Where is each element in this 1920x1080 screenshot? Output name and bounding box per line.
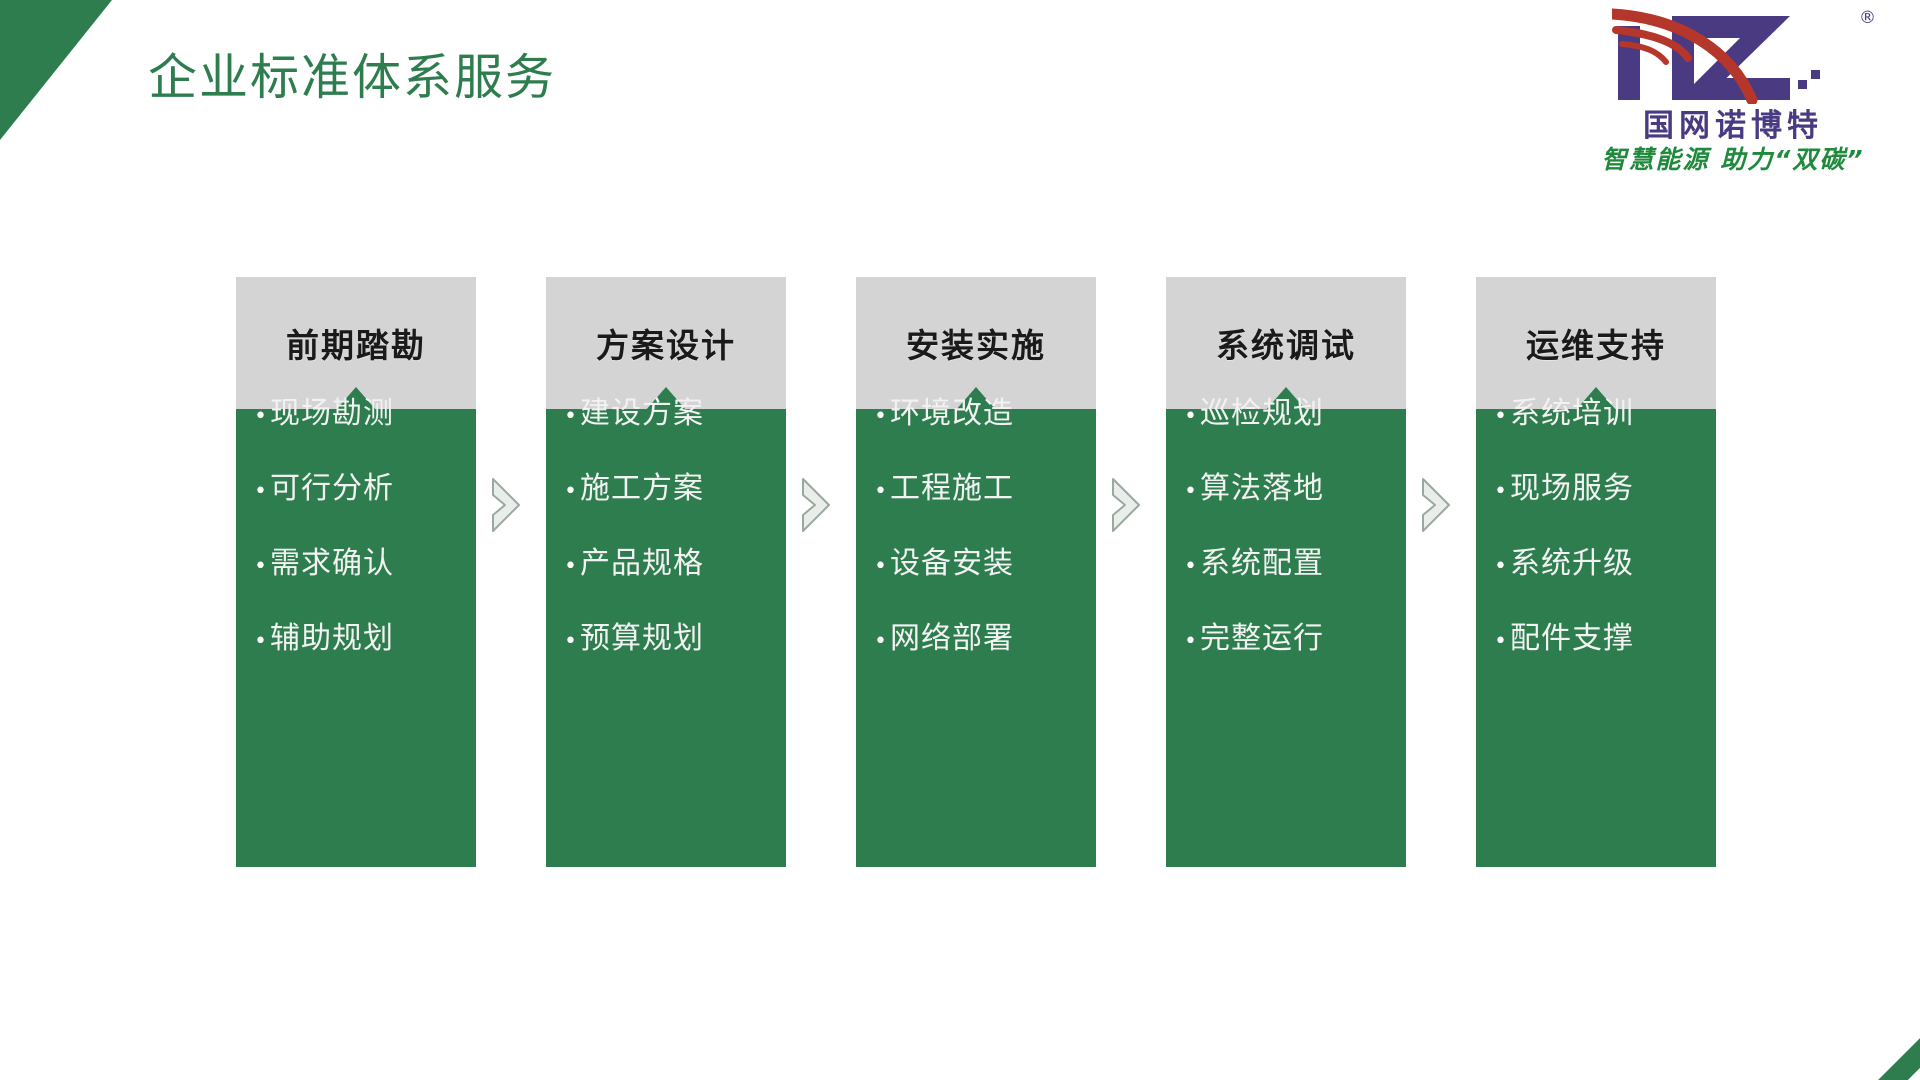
- bullet-label: 完整运行: [1200, 624, 1324, 654]
- bullet-label: 系统配置: [1200, 549, 1324, 579]
- list-item: • 现场勘测: [236, 399, 476, 429]
- list-item: • 产品规格: [546, 549, 786, 579]
- bullet-label: 算法落地: [1200, 474, 1324, 504]
- process-step-4[interactable]: 系统调试 • 巡检规划 • 算法落地 • 系统配置 • 完整运行: [1166, 277, 1406, 867]
- bullet-dot-icon: •: [1184, 406, 1200, 428]
- list-item: • 环境改造: [856, 399, 1096, 429]
- logo-company-name: 国网诺博特: [1584, 100, 1882, 145]
- bullet-label: 系统升级: [1510, 549, 1634, 579]
- chevron-right-icon-2: [799, 477, 833, 533]
- bullet-dot-icon: •: [1494, 556, 1510, 578]
- bullet-dot-icon: •: [1184, 556, 1200, 578]
- list-item: • 完整运行: [1166, 624, 1406, 654]
- step-title: 系统调试: [1216, 319, 1356, 367]
- list-item: • 现场服务: [1476, 474, 1716, 504]
- step-title: 前期踏勘: [286, 319, 426, 367]
- step-title: 运维支持: [1526, 319, 1666, 367]
- step-bullet-list: • 巡检规划 • 算法落地 • 系统配置 • 完整运行: [1166, 399, 1406, 699]
- corner-stripes-bottom-right: [1770, 970, 1920, 1080]
- bullet-dot-icon: •: [874, 406, 890, 428]
- chevron-right-icon-1: [489, 477, 523, 533]
- bullet-dot-icon: •: [564, 556, 580, 578]
- bullet-dot-icon: •: [874, 631, 890, 653]
- bullet-label: 产品规格: [580, 549, 704, 579]
- corner-triangle-top-left: [0, 0, 112, 140]
- registered-trademark-icon: ®: [1859, 10, 1876, 27]
- list-item: • 算法落地: [1166, 474, 1406, 504]
- chevron-right-icon-3: [1109, 477, 1143, 533]
- list-item: • 预算规划: [546, 624, 786, 654]
- list-item: • 设备安装: [856, 549, 1096, 579]
- list-item: • 网络部署: [856, 624, 1096, 654]
- process-step-1[interactable]: 前期踏勘 • 现场勘测 • 可行分析 • 需求确认 • 辅助规划: [236, 277, 476, 867]
- process-step-2[interactable]: 方案设计 • 建设方案 • 施工方案 • 产品规格 • 预算规划: [546, 277, 786, 867]
- bullet-label: 设备安装: [890, 549, 1014, 579]
- bullet-dot-icon: •: [1494, 406, 1510, 428]
- chevron-right-icon-4: [1419, 477, 1453, 533]
- list-item: • 需求确认: [236, 549, 476, 579]
- step-bullet-list: • 环境改造 • 工程施工 • 设备安装 • 网络部署: [856, 399, 1096, 699]
- bullet-label: 配件支撑: [1510, 624, 1634, 654]
- bullet-dot-icon: •: [564, 481, 580, 503]
- list-item: • 建设方案: [546, 399, 786, 429]
- bullet-label: 系统培训: [1510, 399, 1634, 429]
- process-flow: 前期踏勘 • 现场勘测 • 可行分析 • 需求确认 • 辅助规划: [236, 277, 1716, 867]
- slide-canvas: 企业标准体系服务 ® 国网诺博特 智慧能源 助力“双碳”: [0, 0, 1920, 1080]
- bullet-label: 工程施工: [890, 474, 1014, 504]
- bullet-dot-icon: •: [564, 406, 580, 428]
- process-step-3[interactable]: 安装实施 • 环境改造 • 工程施工 • 设备安装 • 网络部署: [856, 277, 1096, 867]
- step-title: 方案设计: [596, 319, 736, 367]
- list-item: • 巡检规划: [1166, 399, 1406, 429]
- logo-monogram-icon: [1612, 8, 1860, 104]
- bullet-label: 施工方案: [580, 474, 704, 504]
- bullet-dot-icon: •: [1184, 481, 1200, 503]
- list-item: • 系统培训: [1476, 399, 1716, 429]
- bullet-dot-icon: •: [254, 631, 270, 653]
- bullet-dot-icon: •: [254, 481, 270, 503]
- bullet-label: 预算规划: [580, 624, 704, 654]
- list-item: • 系统配置: [1166, 549, 1406, 579]
- logo-tagline: 智慧能源 助力“双碳”: [1584, 140, 1882, 176]
- bullet-label: 需求确认: [270, 549, 394, 579]
- page-title: 企业标准体系服务: [148, 52, 556, 106]
- company-logo: ® 国网诺博特 智慧能源 助力“双碳”: [1584, 6, 1882, 171]
- list-item: • 辅助规划: [236, 624, 476, 654]
- bullet-label: 巡检规划: [1200, 399, 1324, 429]
- step-title: 安装实施: [906, 319, 1046, 367]
- bullet-label: 可行分析: [270, 474, 394, 504]
- bullet-label: 辅助规划: [270, 624, 394, 654]
- step-bullet-list: • 建设方案 • 施工方案 • 产品规格 • 预算规划: [546, 399, 786, 699]
- corner-stripe: [1800, 1038, 1920, 1080]
- bullet-dot-icon: •: [254, 556, 270, 578]
- bullet-label: 建设方案: [580, 399, 704, 429]
- list-item: • 施工方案: [546, 474, 786, 504]
- bullet-dot-icon: •: [1494, 631, 1510, 653]
- bullet-label: 环境改造: [890, 399, 1014, 429]
- list-item: • 工程施工: [856, 474, 1096, 504]
- bullet-dot-icon: •: [874, 481, 890, 503]
- step-bullet-list: • 系统培训 • 现场服务 • 系统升级 • 配件支撑: [1476, 399, 1716, 699]
- bullet-dot-icon: •: [1184, 631, 1200, 653]
- bullet-label: 现场勘测: [270, 399, 394, 429]
- list-item: • 配件支撑: [1476, 624, 1716, 654]
- bullet-dot-icon: •: [1494, 481, 1510, 503]
- step-bullet-list: • 现场勘测 • 可行分析 • 需求确认 • 辅助规划: [236, 399, 476, 699]
- bullet-dot-icon: •: [874, 556, 890, 578]
- bullet-label: 现场服务: [1510, 474, 1634, 504]
- bullet-dot-icon: •: [564, 631, 580, 653]
- bullet-label: 网络部署: [890, 624, 1014, 654]
- list-item: • 系统升级: [1476, 549, 1716, 579]
- bullet-dot-icon: •: [254, 406, 270, 428]
- list-item: • 可行分析: [236, 474, 476, 504]
- process-step-5[interactable]: 运维支持 • 系统培训 • 现场服务 • 系统升级 • 配件支撑: [1476, 277, 1716, 867]
